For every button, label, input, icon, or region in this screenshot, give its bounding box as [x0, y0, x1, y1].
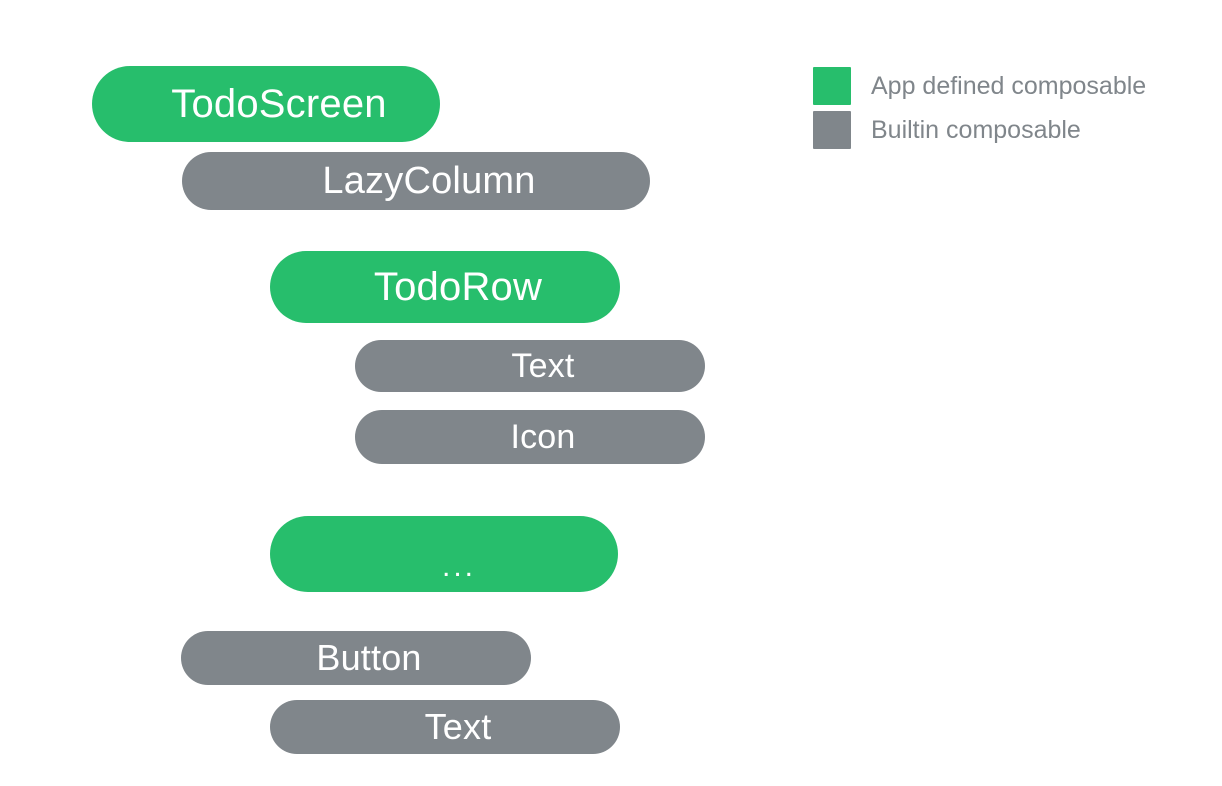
composable-node-label: TodoRow [348, 267, 542, 307]
composable-node-label: Icon [484, 420, 575, 454]
legend-swatch-builtin-icon [813, 111, 851, 149]
composable-node-label: TodoScreen [145, 84, 386, 124]
legend-item-label: App defined composable [871, 74, 1146, 99]
legend: App defined composableBuiltin composable [813, 64, 1203, 152]
composable-node-button: Button [181, 631, 531, 685]
legend-swatch-app-icon [813, 67, 851, 105]
composable-node-icon: Icon [355, 410, 705, 464]
composable-node-label: Text [399, 709, 492, 745]
legend-item-builtin: Builtin composable [813, 108, 1203, 152]
composable-node-label: LazyColumn [296, 162, 535, 200]
composable-node-ellipsis: ... [270, 516, 618, 592]
composition-hierarchy-diagram: TodoScreenLazyColumnTodoRowTextIcon...Bu… [0, 0, 1222, 786]
composable-node-lazycolumn: LazyColumn [182, 152, 650, 210]
composable-node-label: Button [290, 640, 421, 676]
composable-node-todorow: TodoRow [270, 251, 620, 323]
composable-node-label: Text [485, 349, 574, 383]
composable-node-todoscreen: TodoScreen [92, 66, 440, 142]
composable-node-label: ... [412, 552, 476, 582]
legend-item-label: Builtin composable [871, 118, 1081, 143]
composable-node-text: Text [355, 340, 705, 392]
legend-item-app: App defined composable [813, 64, 1203, 108]
composable-node-text: Text [270, 700, 620, 754]
